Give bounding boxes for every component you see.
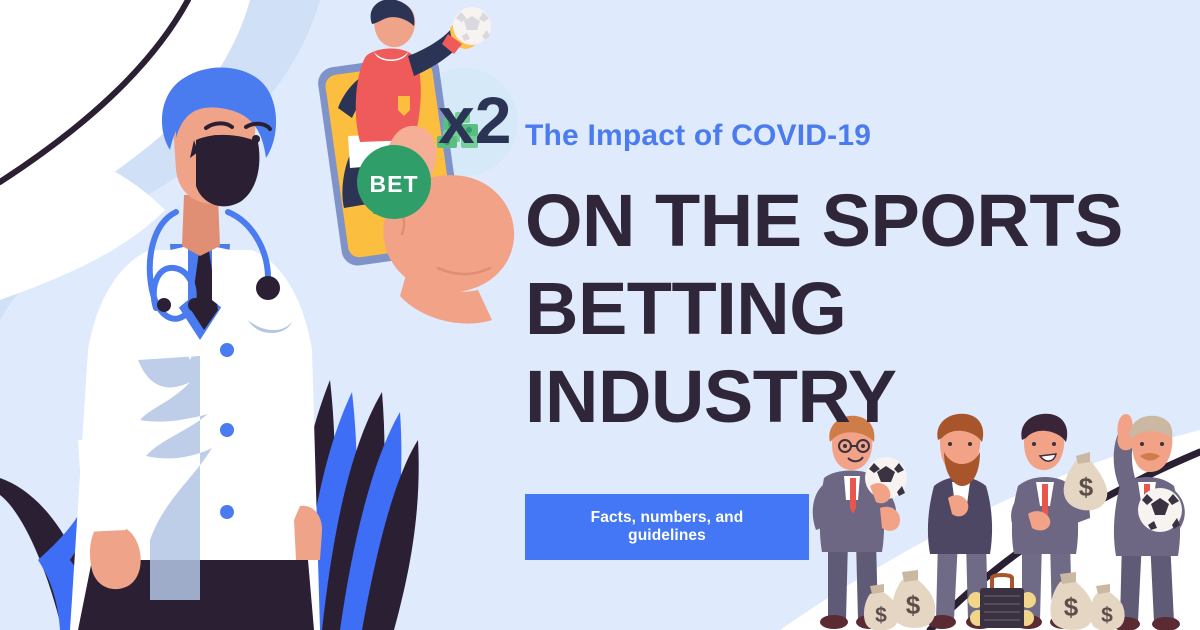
money-bag-2-symbol: $ <box>875 604 887 627</box>
money-bag-3-symbol: $ <box>1064 592 1079 622</box>
covid-sports-betting-banner: BET x2 <box>0 0 1200 630</box>
bm1-eye-left <box>843 444 847 448</box>
bm1-shoe-left <box>820 615 848 629</box>
businessman-with-ball <box>813 416 907 629</box>
bm3-money-bag-symbol: $ <box>1079 472 1094 502</box>
money-bag-3-tie <box>1060 572 1076 584</box>
bm1-eye-right <box>861 444 865 448</box>
bm3-eye-left <box>1032 442 1036 446</box>
bm4-eye-left <box>1140 442 1144 446</box>
bm2-eye-right <box>968 442 972 446</box>
businessman-finger-up <box>1112 414 1185 630</box>
bm2-eye-left <box>948 442 952 446</box>
money-bag-1-tie <box>902 570 918 582</box>
bm4-eye-right <box>1160 442 1164 446</box>
bm3-money-bag-tie <box>1076 452 1090 464</box>
money-bag-4-symbol: $ <box>1101 604 1113 627</box>
subtitle-badge[interactable]: Facts, numbers, and guidelines <box>525 494 809 560</box>
bm3-eye-right <box>1052 442 1056 446</box>
briefcase-body <box>980 588 1024 628</box>
bm1-tie <box>850 478 856 514</box>
money-bags-group-right: $ $ <box>1050 572 1124 630</box>
money-bag-1-symbol: $ <box>906 590 921 620</box>
briefcase-handle <box>992 575 1012 588</box>
bm1-hand-right <box>880 507 900 531</box>
